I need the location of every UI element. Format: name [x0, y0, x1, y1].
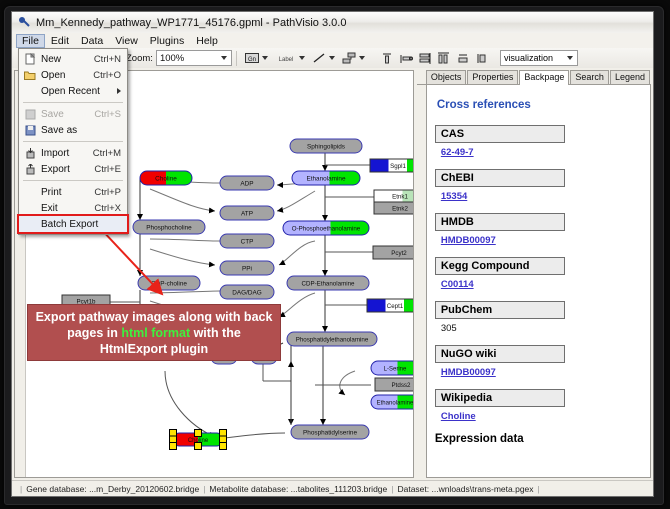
window-client-area: Mm_Kennedy_pathway_WP1771_45176.gpml - P…	[11, 11, 654, 497]
file-menu-divider-1	[23, 102, 123, 103]
pathway-node[interactable]: Ethanolamine	[292, 171, 360, 185]
print-icon-placeholder	[19, 185, 41, 199]
file-menu-label-open-recent: Open Recent	[41, 86, 117, 97]
selection-handle[interactable]	[195, 443, 202, 450]
menu-view[interactable]: View	[109, 34, 144, 48]
sidebar-panel: Objects Properties Backpage Search Legen…	[417, 70, 651, 478]
pathway-gene-label: Etnk2	[392, 206, 408, 213]
stack-horizontal-icon[interactable]	[437, 51, 452, 66]
pathway-node-label: Sphingolipids	[307, 144, 345, 151]
pathway-node-label: Phosphatidylserine	[303, 430, 357, 437]
pathvisio-icon	[18, 16, 31, 29]
selection-handle[interactable]	[195, 430, 202, 437]
pathway-node[interactable]: DAG/DAG	[220, 285, 274, 299]
status-metabolite-database: Metabolite database: ...tabolites_111203…	[209, 484, 387, 494]
file-menu-label-print: Print	[41, 187, 94, 198]
status-divider-3: |	[538, 484, 540, 494]
stack-vertical-icon[interactable]	[418, 51, 433, 66]
visualization-combobox[interactable]: visualization	[500, 50, 578, 66]
save-icon	[19, 107, 41, 121]
menu-help[interactable]: Help	[190, 34, 224, 48]
title-bar: Mm_Kennedy_pathway_WP1771_45176.gpml - P…	[12, 12, 653, 34]
pathway-node[interactable]: Ethanolamine	[371, 395, 414, 409]
menu-file[interactable]: File	[16, 34, 45, 48]
status-divider-0: |	[20, 484, 22, 494]
file-menu-item-exit[interactable]: Exit Ctrl+X	[19, 200, 127, 216]
align-left-icon[interactable]	[399, 51, 414, 66]
pathway-gene-node[interactable]: Pcyt2	[373, 246, 414, 259]
file-menu-label-open: Open	[41, 70, 93, 81]
file-menu-item-open[interactable]: Open Ctrl+O	[19, 67, 127, 83]
pathway-gene-label: Cept1	[387, 303, 404, 310]
pathway-gene-node[interactable]: Cept1	[367, 299, 414, 312]
pathway-node-label: CDP-Ethanolamine	[302, 281, 356, 288]
file-menu-divider-3	[23, 180, 123, 181]
pathway-node[interactable]: ADP	[220, 176, 274, 190]
xref-value-cas[interactable]: 62-49-7	[441, 147, 642, 158]
svg-text:Label: Label	[279, 57, 294, 63]
pathway-node-label: ATP	[241, 211, 253, 218]
pathway-gene-node[interactable]: Ptdss2	[375, 378, 414, 391]
xref-link-chebi[interactable]: 15354	[441, 191, 467, 202]
file-menu-accel-exit: Ctrl+X	[94, 203, 127, 214]
pathway-node-label: Choline	[155, 176, 177, 183]
interaction-chevron-down-icon[interactable]	[359, 56, 365, 60]
pathway-gene-label: Ptdss2	[392, 382, 411, 389]
selection-handle[interactable]	[170, 443, 177, 450]
xref-header-kegg: Kegg Compound	[435, 257, 565, 275]
xref-link-cas[interactable]: 62-49-7	[441, 147, 474, 158]
file-menu-accel-export: Ctrl+E	[94, 164, 127, 175]
callout-highlight: html format	[121, 326, 190, 340]
window-title: Mm_Kennedy_pathway_WP1771_45176.gpml - P…	[36, 17, 346, 29]
pathway-node-label: L-Serine	[384, 367, 407, 373]
svg-text:Gn: Gn	[248, 57, 256, 63]
pathway-node-label: PPi	[242, 266, 252, 273]
xref-value-hmdb[interactable]: HMDB00097	[441, 235, 642, 246]
pathway-node[interactable]: PPi	[220, 261, 274, 275]
pathway-node-label: CDP-choline	[151, 281, 187, 288]
interaction-tool-icon[interactable]	[342, 51, 357, 66]
pathway-node[interactable]: Phosphocholine	[133, 220, 205, 234]
file-menu-label-batch-export: Batch Export	[41, 219, 121, 230]
xref-value-kegg[interactable]: C00114	[441, 279, 642, 290]
pathway-gene-node[interactable]: Sgpl1	[370, 159, 414, 172]
file-menu-item-import[interactable]: Import Ctrl+M	[19, 145, 127, 161]
pathway-node[interactable]: L-Serine	[371, 361, 414, 375]
tab-search[interactable]: Search	[570, 70, 609, 84]
selection-handle[interactable]	[170, 430, 177, 437]
pathway-node-label: Phosphocholine	[146, 225, 192, 232]
folder-open-icon	[19, 68, 41, 82]
xref-link-wikipedia[interactable]: Choline	[441, 411, 476, 422]
pathway-gene-label: Sgpl1	[390, 163, 406, 170]
file-menu-accel-import: Ctrl+M	[93, 148, 127, 159]
pathway-node-label: DAG/DAG	[232, 290, 262, 297]
file-menu-divider-2	[23, 141, 123, 142]
pathway-node[interactable]: CDP-choline	[138, 276, 200, 290]
file-menu-item-export[interactable]: Export Ctrl+E	[19, 161, 127, 177]
tab-legend[interactable]: Legend	[610, 70, 650, 84]
status-divider-1: |	[203, 484, 205, 494]
file-menu-label-exit: Exit	[41, 203, 94, 214]
file-menu-dropdown[interactable]: New Ctrl+N Open Ctrl+O Open Recent	[18, 48, 128, 235]
submenu-chevron-right-icon	[117, 88, 121, 94]
pathway-gene-label: Pcyt2	[391, 250, 407, 257]
batch-export-icon-placeholder	[19, 217, 41, 231]
line-chevron-down-icon[interactable]	[329, 56, 335, 60]
toolbar-separator	[236, 51, 237, 66]
common-width-icon[interactable]	[456, 51, 471, 66]
tab-backpage[interactable]: Backpage	[519, 70, 569, 85]
label-tool-icon[interactable]: Label	[275, 51, 297, 66]
pathway-node-label: O-Phosphoethanolamine	[292, 226, 361, 233]
xref-link-nugo[interactable]: HMDB00097	[441, 367, 496, 378]
xref-link-hmdb[interactable]: HMDB00097	[441, 235, 496, 246]
label-chevron-down-icon[interactable]	[299, 56, 305, 60]
status-dataset: Dataset: ...wnloads\trans-meta.pgex	[397, 484, 533, 494]
file-menu-label-save-as: Save as	[41, 125, 121, 136]
xref-value-chebi[interactable]: 15354	[441, 191, 642, 202]
pathway-gene-node[interactable]: Etnk1	[374, 190, 414, 202]
selection-handle[interactable]	[170, 436, 177, 443]
pathway-node[interactable]: Phosphatidylethanolamine	[287, 332, 377, 346]
align-top-icon[interactable]	[380, 51, 395, 66]
pathway-node[interactable]: Choline	[170, 430, 227, 450]
file-menu-label-import: Import	[41, 148, 93, 159]
pathway-node-label: CTP	[241, 239, 254, 246]
pathway-node[interactable]: CTP	[220, 234, 274, 248]
xref-header-hmdb: HMDB	[435, 213, 565, 231]
new-file-icon	[19, 52, 41, 66]
sidebar-tabs[interactable]: Objects Properties Backpage Search Legen…	[417, 70, 651, 85]
xref-header-cas: CAS	[435, 125, 565, 143]
datanode-chevron-down-icon[interactable]	[262, 56, 268, 60]
pathway-gene-node[interactable]: Etnk2	[374, 202, 414, 214]
line-tool-icon[interactable]	[312, 51, 327, 66]
pathway-node-label: ADP	[240, 181, 253, 188]
selection-handle[interactable]	[220, 430, 227, 437]
callout-line1: Export pathway images along with back	[36, 310, 273, 324]
menu-plugins[interactable]: Plugins	[144, 34, 190, 48]
exit-icon-placeholder	[19, 201, 41, 215]
pathway-node[interactable]: CDP-Ethanolamine	[287, 276, 369, 290]
menu-edit[interactable]: Edit	[45, 34, 75, 48]
xref-value-nugo[interactable]: HMDB00097	[441, 367, 642, 378]
xref-link-kegg[interactable]: C00114	[441, 279, 474, 290]
file-menu-accel-new: Ctrl+N	[94, 54, 127, 65]
tab-objects[interactable]: Objects	[426, 70, 467, 84]
save-as-icon	[19, 123, 41, 137]
import-icon	[19, 146, 41, 160]
status-divider-2: |	[391, 484, 393, 494]
pathway-node[interactable]: Sphingolipids	[290, 139, 362, 153]
open-recent-icon-placeholder	[19, 84, 41, 98]
pathway-gene-label: Etnk1	[392, 194, 408, 201]
selection-handle[interactable]	[220, 443, 227, 450]
backpage-content: Cross references CAS 62-49-7 ChEBI 15354…	[426, 85, 651, 478]
visualization-chevron-down-icon	[567, 56, 573, 60]
status-bar: | Gene database: ...m_Derby_20120602.bri…	[12, 480, 653, 496]
xref-value-pubchem: 305	[441, 323, 642, 334]
pathway-node-label: Phosphatidylethanolamine	[296, 337, 369, 344]
cross-references-title: Cross references	[437, 99, 642, 111]
pathway-node[interactable]: O-Phosphoethanolamine	[283, 221, 369, 235]
pathway-node-label: Ethanolamine	[306, 176, 346, 183]
file-menu-item-batch-export[interactable]: Batch Export	[19, 216, 127, 232]
common-height-icon[interactable]	[475, 51, 490, 66]
xref-header-chebi: ChEBI	[435, 169, 565, 187]
pathway-node[interactable]: Phosphatidylserine	[291, 425, 369, 439]
callout-line2-b: with the	[190, 326, 241, 340]
file-menu-label-new: New	[41, 54, 94, 65]
menu-bar[interactable]: File Edit Data View Plugins Help	[12, 33, 654, 49]
file-menu-accel-print: Ctrl+P	[94, 187, 127, 198]
file-menu-item-open-recent[interactable]: Open Recent	[19, 83, 127, 99]
file-menu-item-save-as[interactable]: Save as	[19, 122, 127, 138]
export-icon	[19, 162, 41, 176]
screen-root: Mm_Kennedy_pathway_WP1771_45176.gpml - P…	[0, 0, 670, 509]
status-gene-database: Gene database: ...m_Derby_20120602.bridg…	[26, 484, 199, 494]
pathway-node-label: Ethanolamine	[377, 401, 414, 407]
xref-value-wikipedia[interactable]: Choline	[441, 411, 642, 422]
pathway-node[interactable]: ATP	[220, 206, 274, 220]
pathway-node[interactable]: Choline	[140, 171, 192, 185]
callout-line3: HtmlExport plugin	[100, 342, 208, 356]
file-menu-label-save: Save	[41, 109, 94, 120]
menu-data[interactable]: Data	[75, 34, 109, 48]
annotation-callout: Export pathway images along with back pa…	[27, 304, 281, 361]
file-menu-item-new[interactable]: New Ctrl+N	[19, 51, 127, 67]
xref-header-nugo: NuGO wiki	[435, 345, 565, 363]
file-menu-accel-open: Ctrl+O	[93, 70, 127, 81]
datanode-tool-icon[interactable]: Gn	[245, 51, 260, 66]
application-window: Mm_Kennedy_pathway_WP1771_45176.gpml - P…	[4, 6, 664, 505]
zoom-combobox[interactable]: 100%	[156, 50, 232, 66]
file-menu-accel-save: Ctrl+S	[94, 109, 127, 120]
xref-header-pubchem: PubChem	[435, 301, 565, 319]
file-menu-item-save: Save Ctrl+S	[19, 106, 127, 122]
selection-handle[interactable]	[220, 436, 227, 443]
file-menu-item-print[interactable]: Print Ctrl+P	[19, 184, 127, 200]
visualization-value: visualization	[504, 53, 553, 63]
zoom-value: 100%	[160, 53, 184, 64]
chevron-down-icon	[221, 56, 227, 60]
zoom-label: Zoom:	[126, 53, 153, 64]
expression-data-title: Expression data	[435, 433, 642, 445]
callout-line2-a: pages in	[67, 326, 121, 340]
file-menu-label-export: Export	[41, 164, 94, 175]
tab-properties[interactable]: Properties	[467, 70, 518, 84]
xref-header-wikipedia: Wikipedia	[435, 389, 565, 407]
